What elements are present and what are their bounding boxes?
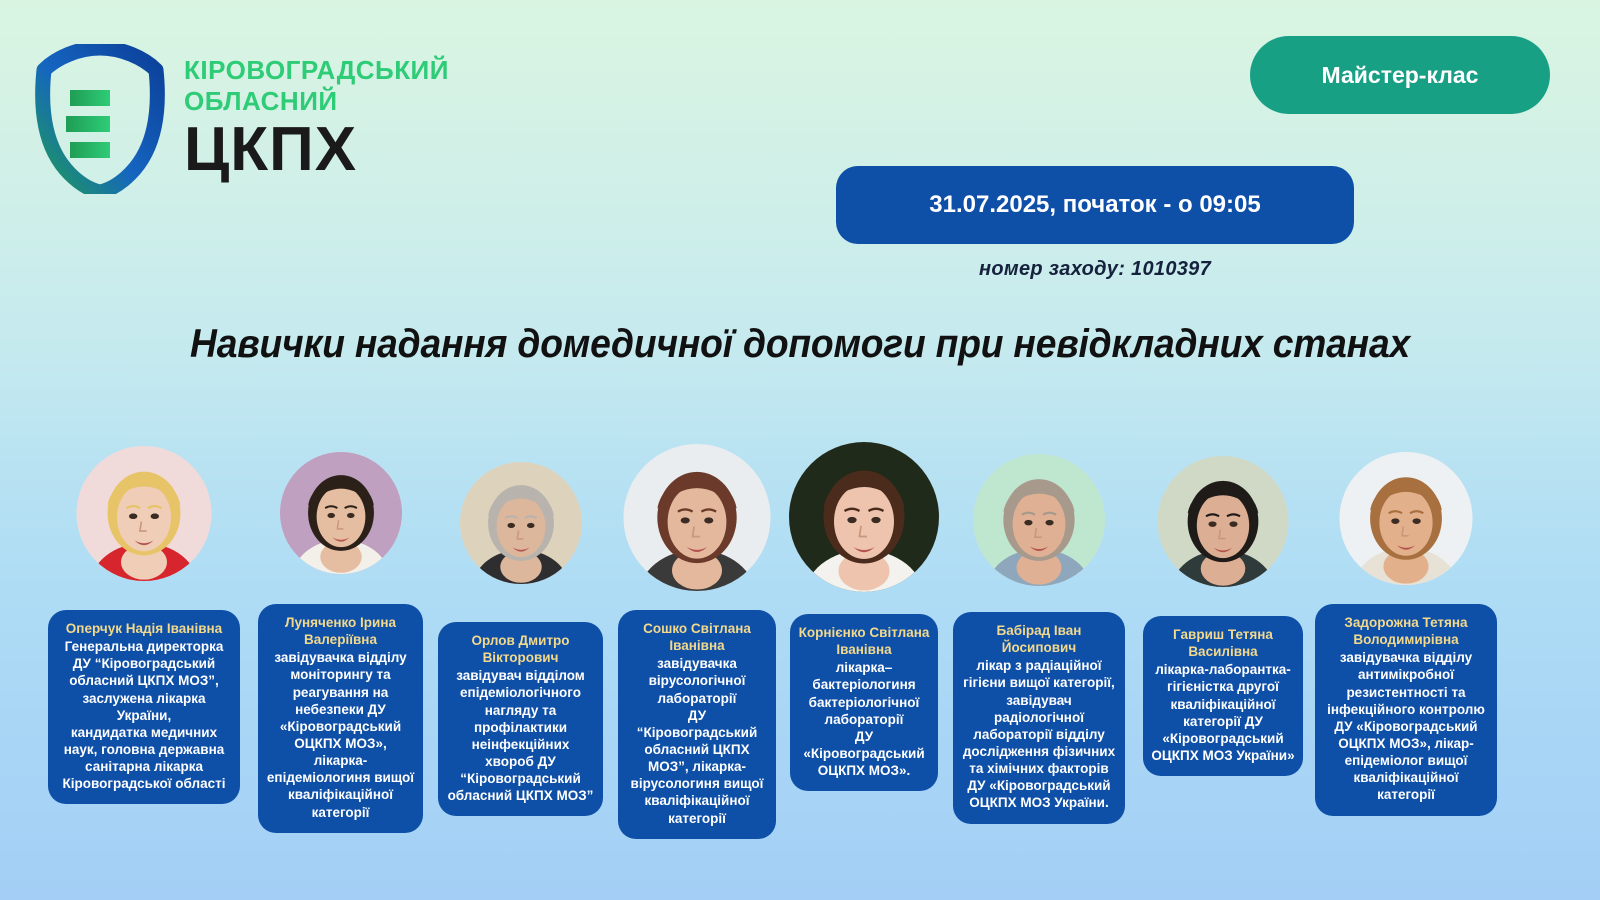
speaker-info-card: Оперчук Надія ІванівнаГенеральна директо… <box>48 610 240 804</box>
speaker-info-card: Сошко Світлана Іванівназавідувачка вірус… <box>618 610 776 839</box>
speaker-list: Оперчук Надія ІванівнаГенеральна директо… <box>0 430 1600 830</box>
speaker-name: Задорожна Тетяна Володимирівна <box>1323 614 1489 648</box>
shield-heart-logo-icon <box>34 44 166 194</box>
logo-line-1: КІРОВОГРАДСЬКИЙ <box>184 57 449 83</box>
organization-logo: КІРОВОГРАДСЬКИЙ ОБЛАСНИЙ ЦКПХ <box>34 44 449 194</box>
speaker-position: завідувач відділом епідеміологічного наг… <box>446 667 595 804</box>
avatar-zadorozhna <box>1340 452 1473 585</box>
speaker-info-card: Корнієнко Світлана Іванівналікарка–бакте… <box>790 614 938 791</box>
speaker-name: Корнієнко Світлана Іванівна <box>798 624 930 658</box>
avatar-orlov-image <box>460 462 582 584</box>
avatar-orlov <box>460 462 582 584</box>
speaker-position: Генеральна директорка ДУ “Кіровоградськи… <box>56 638 232 792</box>
logo-wordmark: КІРОВОГРАДСЬКИЙ ОБЛАСНИЙ ЦКПХ <box>184 57 449 181</box>
avatar-operchuk-image <box>77 446 212 581</box>
event-datetime-label: 31.07.2025, початок - о 09:05 <box>929 191 1260 219</box>
avatar-havrysh <box>1158 456 1289 587</box>
avatar-babirad-image <box>973 454 1105 586</box>
speaker-position: завідувачка вірусологічної лабораторії Д… <box>626 655 768 826</box>
logo-abbreviation: ЦКПХ <box>184 119 449 181</box>
speaker-info-card: Задорожна Тетяна Володимирівназавідувачк… <box>1315 604 1497 816</box>
avatar-kornienko-image <box>789 442 939 592</box>
avatar-soshko-image <box>624 444 771 591</box>
speaker-position: лікар з радіаційної гігієни вищої катего… <box>961 657 1117 811</box>
speaker-position: завідувачка відділу антимікробної резист… <box>1323 649 1489 803</box>
speaker-name: Гавриш Тетяна Василівна <box>1151 626 1295 660</box>
avatar-zadorozhna-image <box>1340 452 1473 585</box>
speaker-name: Сошко Світлана Іванівна <box>626 620 768 654</box>
event-datetime-badge: 31.07.2025, початок - о 09:05 <box>836 166 1354 244</box>
avatar-babirad <box>973 454 1105 586</box>
speaker-info-card: Бабірад Іван Йосиповичлікар з радіаційно… <box>953 612 1125 824</box>
avatar-lunyachenko-image <box>280 452 402 574</box>
speaker-position: лікарка–бактеріологиня бактеріологічної … <box>798 659 930 779</box>
avatar-operchuk <box>77 446 212 581</box>
announcement-slide: КІРОВОГРАДСЬКИЙ ОБЛАСНИЙ ЦКПХ Майстер-кл… <box>0 0 1600 900</box>
event-type-label: Майстер-клас <box>1322 62 1479 89</box>
speaker-info-card: Орлов Дмитро Вікторовичзавідувач відділо… <box>438 622 603 816</box>
avatar-kornienko <box>789 442 939 592</box>
speaker-name: Орлов Дмитро Вікторович <box>446 632 595 666</box>
speaker-name: Луняченко Ірина Валеріївна <box>266 614 415 648</box>
speaker-name: Бабірад Іван Йосипович <box>961 622 1117 656</box>
avatar-soshko <box>624 444 771 591</box>
speaker-info-card: Луняченко Ірина Валеріївназавідувачка ві… <box>258 604 423 833</box>
page-title: Навички надання домедичної допомоги при … <box>56 322 1544 367</box>
event-number: номер заходу: 1010397 <box>836 258 1354 281</box>
speaker-position: завідувачка відділу моніторингу та реагу… <box>266 649 415 820</box>
speaker-info-card: Гавриш Тетяна Василівналікарка-лаборантк… <box>1143 616 1303 776</box>
speaker-name: Оперчук Надія Іванівна <box>56 620 232 637</box>
event-type-badge: Майстер-клас <box>1250 36 1550 114</box>
avatar-havrysh-image <box>1158 456 1289 587</box>
logo-line-2: ОБЛАСНИЙ <box>184 88 449 114</box>
speaker-position: лікарка-лаборантка-гігієністка другої кв… <box>1151 661 1295 764</box>
avatar-lunyachenko <box>280 452 402 574</box>
